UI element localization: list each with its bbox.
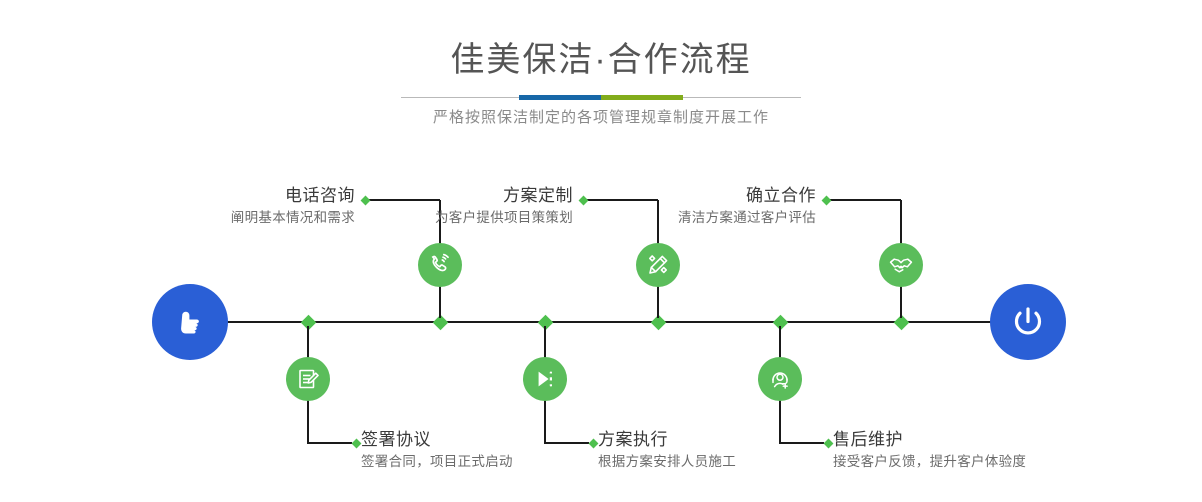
step-icon-bubble-3[interactable] — [636, 243, 680, 287]
title-divider — [401, 95, 801, 101]
step-label-3: 方案定制 为客户提供项目策策划 — [368, 186, 573, 228]
step-desc-1: 阐明基本情况和需求 — [165, 208, 355, 228]
step-icon-bubble-4[interactable] — [523, 357, 567, 401]
connector-horizontal-5 — [826, 199, 901, 201]
step-desc-2: 签署合同，项目正式启动 — [361, 452, 591, 472]
page-subtitle: 严格按照保洁制定的各项管理规章制度开展工作 — [0, 106, 1202, 127]
step-desc-3: 为客户提供项目策策划 — [368, 208, 573, 228]
play-next-icon — [532, 366, 558, 392]
step-icon-bubble-5[interactable] — [879, 243, 923, 287]
connector-horizontal-4 — [545, 442, 589, 444]
step-label-1: 电话咨询 阐明基本情况和需求 — [165, 186, 355, 228]
step-title-2: 签署协议 — [361, 430, 591, 450]
step-label-2: 签署协议 签署合同，项目正式启动 — [361, 430, 591, 472]
flow-end-node[interactable] — [990, 284, 1066, 360]
step-desc-6: 接受客户反馈，提升客户体验度 — [833, 452, 1083, 472]
phone-call-icon — [427, 252, 453, 278]
handshake-icon — [888, 252, 914, 278]
page-title: 佳美保洁·合作流程 — [0, 0, 1202, 77]
step-title-3: 方案定制 — [368, 186, 573, 206]
divider-green-segment — [601, 95, 683, 100]
pencil-icon — [645, 252, 671, 278]
step-desc-4: 根据方案安排人员施工 — [598, 452, 813, 472]
label-diamond-5 — [822, 195, 832, 205]
label-diamond-6 — [824, 438, 834, 448]
step-label-5: 确立合作 清洁方案通过客户评估 — [611, 186, 816, 228]
pointing-hand-icon — [169, 301, 211, 343]
step-title-6: 售后维护 — [833, 430, 1083, 450]
infographic-canvas: 佳美保洁·合作流程 严格按照保洁制定的各项管理规章制度开展工作 — [0, 0, 1202, 502]
connector-horizontal-6 — [780, 442, 824, 444]
power-icon — [1006, 300, 1050, 344]
step-title-1: 电话咨询 — [165, 186, 355, 206]
step-icon-bubble-6[interactable] — [758, 357, 802, 401]
divider-blue-segment — [519, 95, 601, 100]
customer-service-add-icon — [767, 366, 793, 392]
document-edit-icon — [295, 366, 321, 392]
label-diamond-3 — [579, 195, 589, 205]
step-title-5: 确立合作 — [611, 186, 816, 206]
connector-horizontal-2 — [308, 442, 352, 444]
flow-start-node[interactable] — [152, 284, 228, 360]
header: 佳美保洁·合作流程 — [0, 0, 1202, 77]
step-icon-bubble-2[interactable] — [286, 357, 330, 401]
step-desc-5: 清洁方案通过客户评估 — [611, 208, 816, 228]
step-icon-bubble-1[interactable] — [418, 243, 462, 287]
label-diamond-2 — [352, 438, 362, 448]
step-label-6: 售后维护 接受客户反馈，提升客户体验度 — [833, 430, 1083, 472]
